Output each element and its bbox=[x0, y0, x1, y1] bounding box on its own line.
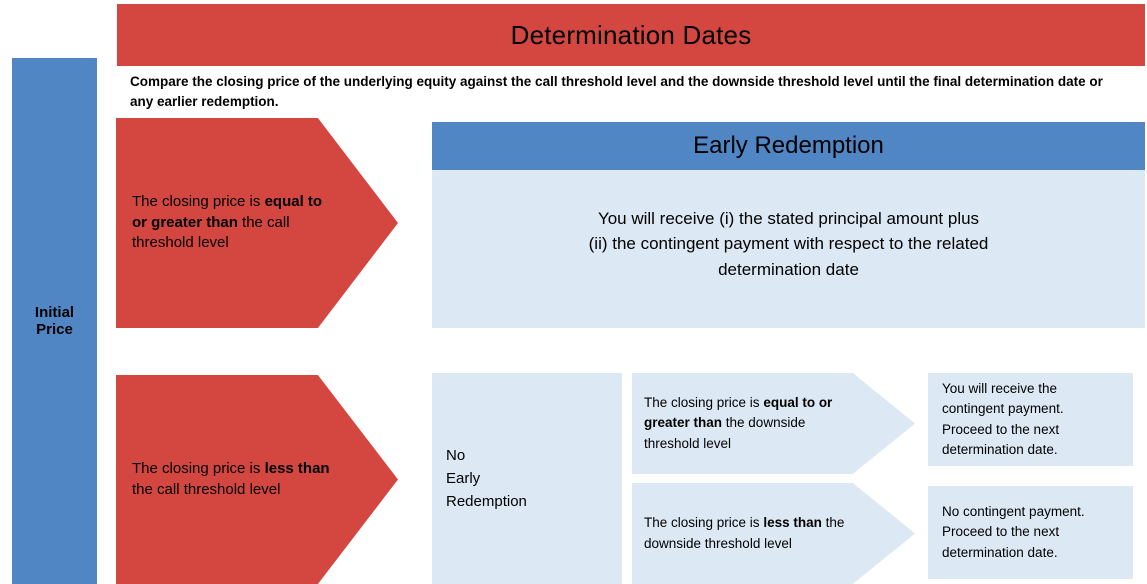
condition-arrow-call-below: The closing price is less than the call … bbox=[116, 375, 398, 584]
cond2-bold: less than bbox=[265, 460, 330, 477]
page-title: Determination Dates bbox=[511, 20, 752, 51]
determination-dates-flowchart: Initial Price Determination Dates Compar… bbox=[0, 0, 1147, 584]
early-redemption-description: You will receive (i) the stated principa… bbox=[589, 206, 989, 293]
cond2-part1: The closing price is bbox=[132, 460, 265, 477]
cond4-bold: less than bbox=[763, 515, 822, 530]
condition-arrow-call-at-or-above: The closing price is equal to or greater… bbox=[116, 118, 398, 328]
condition-arrow-call-at-or-above-label: The closing price is equal to or greater… bbox=[116, 192, 398, 254]
cond4-part1: The closing price is bbox=[644, 515, 763, 530]
initial-price-bar: Initial Price bbox=[12, 58, 97, 584]
no-early-redemption-label: No Early Redemption bbox=[432, 444, 527, 514]
outcome-box-contingent-payment: You will receive the contingent payment.… bbox=[928, 373, 1133, 466]
initial-price-label: Initial Price bbox=[35, 304, 74, 339]
outcome-contingent-payment-text: You will receive the contingent payment.… bbox=[928, 379, 1072, 460]
no-early-redemption-box: No Early Redemption bbox=[432, 373, 622, 584]
condition-arrow-downside-below: The closing price is less than the downs… bbox=[632, 483, 915, 584]
description-text: Compare the closing price of the underly… bbox=[130, 72, 1125, 111]
determination-dates-banner: Determination Dates bbox=[117, 4, 1145, 66]
cond1-part1: The closing price is bbox=[132, 193, 265, 210]
cond2-part2: the call threshold level bbox=[132, 481, 280, 498]
early-redemption-panel: Early Redemption You will receive (i) th… bbox=[432, 122, 1145, 328]
early-redemption-title: Early Redemption bbox=[693, 132, 884, 160]
condition-arrow-downside-at-or-above-label: The closing price is equal to or greater… bbox=[632, 393, 915, 454]
early-redemption-header: Early Redemption bbox=[432, 122, 1145, 170]
early-redemption-body: You will receive (i) the stated principa… bbox=[432, 170, 1145, 328]
outcome-box-no-payment: No contingent payment. Proceed to the ne… bbox=[928, 486, 1133, 579]
condition-arrow-call-below-label: The closing price is less than the call … bbox=[116, 459, 398, 500]
outcome-no-payment-text: No contingent payment. Proceed to the ne… bbox=[928, 502, 1093, 563]
condition-arrow-downside-below-label: The closing price is less than the downs… bbox=[632, 513, 915, 554]
cond3-part1: The closing price is bbox=[644, 395, 763, 410]
condition-arrow-downside-at-or-above: The closing price is equal to or greater… bbox=[632, 373, 915, 474]
